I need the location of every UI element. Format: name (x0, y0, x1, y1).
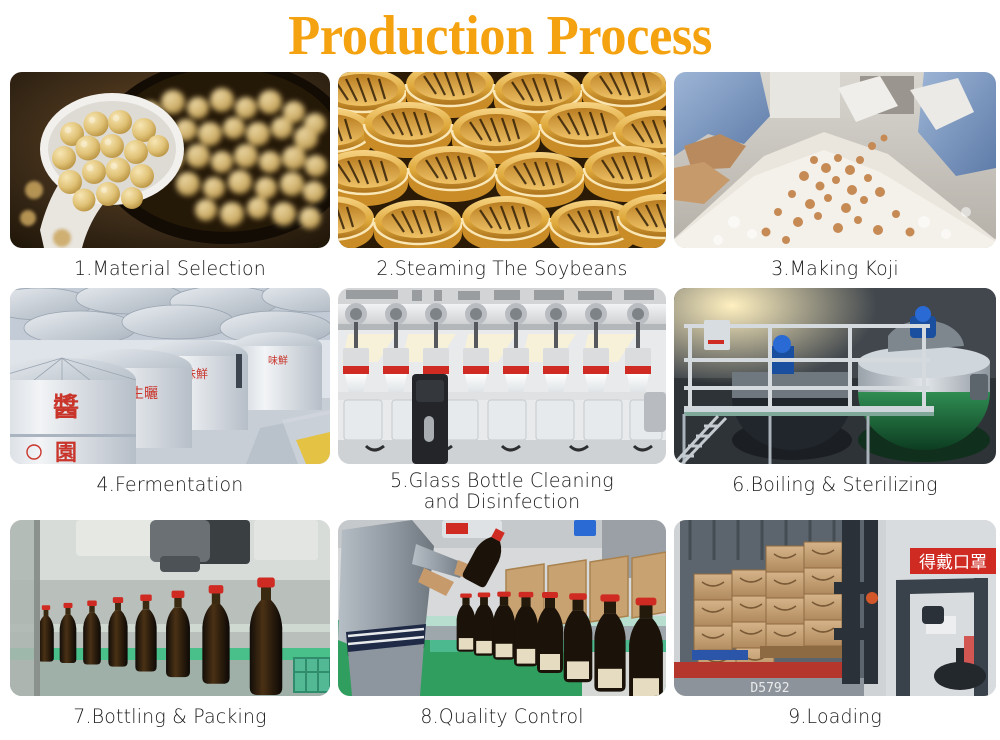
process-step-3: 3.Making Koji (674, 72, 996, 288)
step-5-caption: 5.Glass Bottle Cleaningand Disinfection (343, 464, 661, 520)
process-step-1: 1.Material Selection (10, 72, 330, 288)
process-step-9: D5792 得戴口罩 (674, 520, 996, 736)
step-5-caption-line2: and Disinfection (424, 490, 581, 513)
process-step-8: 8.Quality Control (338, 520, 666, 736)
step-9-caption: 9.Loading (679, 696, 991, 736)
svg-text:得戴口罩: 得戴口罩 (919, 553, 987, 573)
step-5-image (338, 288, 666, 464)
step-3-caption: 3.Making Koji (679, 248, 991, 288)
step-3-image (674, 72, 996, 248)
svg-text:味鮮: 味鮮 (268, 354, 288, 367)
svg-text:園: 園 (55, 441, 77, 464)
step-1-caption: 1.Material Selection (15, 248, 325, 288)
page-title: Production Process (30, 0, 970, 72)
step-2-image (338, 72, 666, 248)
process-step-6: 6.Boiling & Sterilizing (674, 288, 996, 520)
step-8-caption: 8.Quality Control (343, 696, 661, 736)
step-8-image (338, 520, 666, 696)
process-step-7: 7.Bottling & Packing (10, 520, 330, 736)
step-7-caption: 7.Bottling & Packing (15, 696, 325, 736)
step-4-image: 味鮮 味鮮 天然生曬 (10, 288, 330, 464)
process-grid: 1.Material Selection (0, 72, 1000, 736)
svg-text:醬: 醬 (53, 393, 79, 423)
process-step-4: 味鮮 味鮮 天然生曬 (10, 288, 330, 520)
process-step-5: 5.Glass Bottle Cleaningand Disinfection (338, 288, 666, 520)
process-step-2: 2.Steaming The Soybeans (338, 72, 666, 288)
step-5-caption-line1: 5.Glass Bottle Cleaning (390, 469, 614, 492)
step-6-image (674, 288, 996, 464)
step-2-caption: 2.Steaming The Soybeans (343, 248, 661, 288)
step-1-image (10, 72, 330, 248)
step-9-image: D5792 得戴口罩 (674, 520, 996, 696)
step-4-caption: 4.Fermentation (15, 464, 325, 504)
step-7-image (10, 520, 330, 696)
svg-text:D5792: D5792 (750, 681, 789, 696)
step-6-caption: 6.Boiling & Sterilizing (679, 464, 991, 504)
